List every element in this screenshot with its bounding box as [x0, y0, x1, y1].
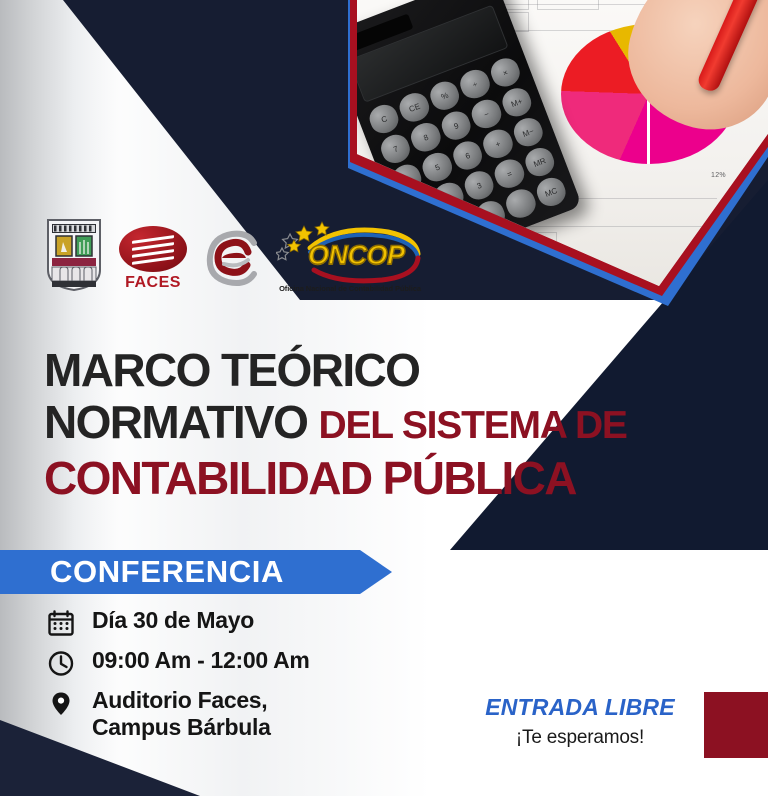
headline-line-1: MARCO TEÓRICO	[44, 344, 704, 396]
red-accent-block	[704, 692, 768, 758]
calculator-key: ÷	[457, 66, 494, 102]
entrada-libre-block: ENTRADA LIBRE ¡Te esperamos!	[464, 694, 696, 749]
oncop-logo-wordmark: ONCOP	[308, 240, 405, 271]
oncop-logo-subtitle: Oficina Nacional de Contabilidad Pública	[276, 284, 424, 293]
conferencia-banner-label: CONFERENCIA	[50, 554, 284, 590]
calculator-key: 6	[449, 137, 486, 173]
event-location-line-2: Campus Bárbula	[92, 714, 271, 740]
page-title: MARCO TEÓRICO NORMATIVO DEL SISTEMA DE C…	[44, 344, 704, 504]
clock-icon	[48, 647, 74, 678]
calculator-key: M+	[498, 84, 535, 120]
calculator-key: 9	[438, 107, 475, 143]
oncop-logo: ONCOP Oficina Nacional de Contabilidad P…	[276, 220, 424, 292]
event-details: Día 30 de Mayo 09:00 Am - 12:00 Am Audit…	[48, 607, 468, 750]
logo-row: FACES	[46, 218, 424, 292]
calculator-key: C	[366, 101, 403, 137]
headline-line-2-black: NORMATIVO	[44, 396, 307, 448]
calculator-key: %	[426, 78, 463, 114]
conference-poster: 25% 12% CCE%÷×789−M+456+M−123=MR000.MC	[0, 0, 768, 796]
e-swirl-logo	[204, 230, 262, 292]
event-location-text: Auditorio Faces,Campus Bárbula	[92, 687, 271, 741]
calculator-key: +	[480, 126, 517, 162]
universidad-de-carabobo-shield	[46, 218, 102, 292]
faces-logo-oval	[119, 226, 187, 272]
event-location: Auditorio Faces,Campus Bárbula	[48, 687, 468, 741]
headline-line-2-red: DEL SISTEMA DE	[318, 404, 626, 447]
pie-label-1: 12%	[711, 172, 726, 179]
calculator-key	[503, 185, 540, 221]
faces-logo-label: FACES	[116, 274, 190, 292]
calculator-key: =	[491, 156, 528, 192]
calculator-key: ×	[487, 54, 524, 90]
calculator-key: 5	[419, 149, 456, 185]
calculator-key: MC	[533, 174, 570, 210]
calculator-key: 8	[408, 119, 445, 155]
event-time-text: 09:00 Am - 12:00 Am	[92, 647, 310, 674]
event-location-line-1: Auditorio Faces,	[92, 687, 267, 713]
te-esperamos-label: ¡Te esperamos!	[464, 727, 696, 749]
event-time: 09:00 Am - 12:00 Am	[48, 647, 468, 678]
event-date-text: Día 30 de Mayo	[92, 607, 254, 634]
headline-line-3: CONTABILIDAD PÚBLICA	[44, 452, 704, 504]
calculator-key: M−	[510, 114, 547, 150]
calculator-key: MR	[521, 144, 558, 180]
event-date: Día 30 de Mayo	[48, 607, 468, 638]
calculator-key: 3	[461, 167, 498, 203]
conferencia-banner: CONFERENCIA	[0, 550, 392, 594]
calculator-key: −	[468, 96, 505, 132]
headline-line-2: NORMATIVO DEL SISTEMA DE	[44, 396, 704, 452]
entrada-libre-label: ENTRADA LIBRE	[464, 694, 696, 721]
calculator-key: CE	[396, 89, 433, 125]
calculator-key: 7	[377, 131, 414, 167]
location-pin-icon	[48, 687, 74, 718]
calendar-icon	[48, 607, 74, 638]
faces-logo: FACES	[116, 226, 190, 292]
